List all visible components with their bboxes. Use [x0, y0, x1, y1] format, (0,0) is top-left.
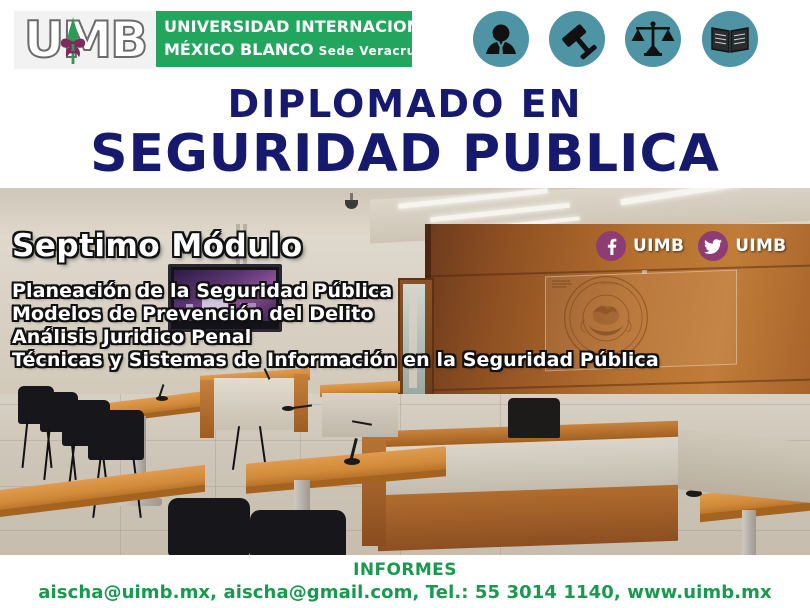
title-line-1: DIPLOMADO EN: [0, 82, 810, 126]
judge-chair: [508, 398, 560, 438]
footer: INFORMES aischa@uimb.mx, aischa@gmail.co…: [0, 555, 810, 608]
microphone-base: [344, 458, 360, 465]
topic-icon-row: [470, 11, 800, 69]
poster-title: DIPLOMADO EN SEGURIDAD PUBLICA: [0, 82, 810, 182]
banner-university-name: MÉXICO BLANCO: [164, 40, 314, 59]
desk-front-panel: [214, 378, 294, 430]
university-name-banner: UNIVERSIDAD INTERNACIONAL MÉXICO BLANCOS…: [156, 11, 412, 67]
facebook-handle: UIMB: [633, 236, 684, 256]
banner-campus-name: Sede Veracruz: [319, 44, 424, 58]
logo-letters: UMB: [14, 11, 156, 69]
chair: [168, 498, 250, 555]
flyer-poster: UMB UNIVERSIDAD INTERNACIONAL MÉXICO BLA…: [0, 0, 810, 608]
contact-info: aischa@uimb.mx, aischa@gmail.com, Tel.: …: [0, 581, 810, 605]
course-item: Técnicas y Sistemas de Información en la…: [12, 349, 772, 372]
chair: [250, 510, 346, 555]
banner-line-1: UNIVERSIDAD INTERNACIONAL: [164, 17, 443, 36]
microphone-base: [282, 406, 294, 411]
chair: [88, 410, 144, 460]
microphone-base: [156, 396, 168, 401]
banner-line-2: MÉXICO BLANCOSede Veracruz: [164, 40, 423, 60]
header: UMB UNIVERSIDAD INTERNACIONAL MÉXICO BLA…: [0, 0, 810, 80]
facebook-badge[interactable]: UIMB: [596, 231, 684, 261]
gavel-icon: [549, 11, 605, 67]
desk-front-panel: [322, 393, 398, 437]
informes-heading: INFORMES: [0, 555, 810, 581]
twitter-badge[interactable]: UIMB: [698, 231, 786, 261]
courtroom-photo: H. TRIBUNAL DE JUSTICIA DEL ESTADO: [0, 188, 810, 555]
businessman-icon: [473, 11, 529, 67]
twitter-icon[interactable]: [698, 231, 728, 261]
social-media-badges: UIMB UIMB: [596, 231, 786, 261]
open-book-icon: [702, 11, 758, 67]
desk-panel: [294, 374, 308, 432]
course-item: Análisis Juridico Penal: [12, 326, 772, 349]
facebook-icon[interactable]: [596, 231, 626, 261]
twitter-handle: UIMB: [735, 236, 786, 256]
course-item: Modelos de Prevención del Delito: [12, 303, 772, 326]
scales-of-justice-icon: [625, 11, 681, 67]
desk-leg: [742, 510, 756, 555]
title-line-2: SEGURIDAD PUBLICA: [0, 126, 810, 182]
desk-panel: [200, 380, 214, 438]
course-item: Planeación de la Seguridad Pública: [12, 280, 772, 303]
uimb-logo: UMB: [14, 11, 156, 69]
